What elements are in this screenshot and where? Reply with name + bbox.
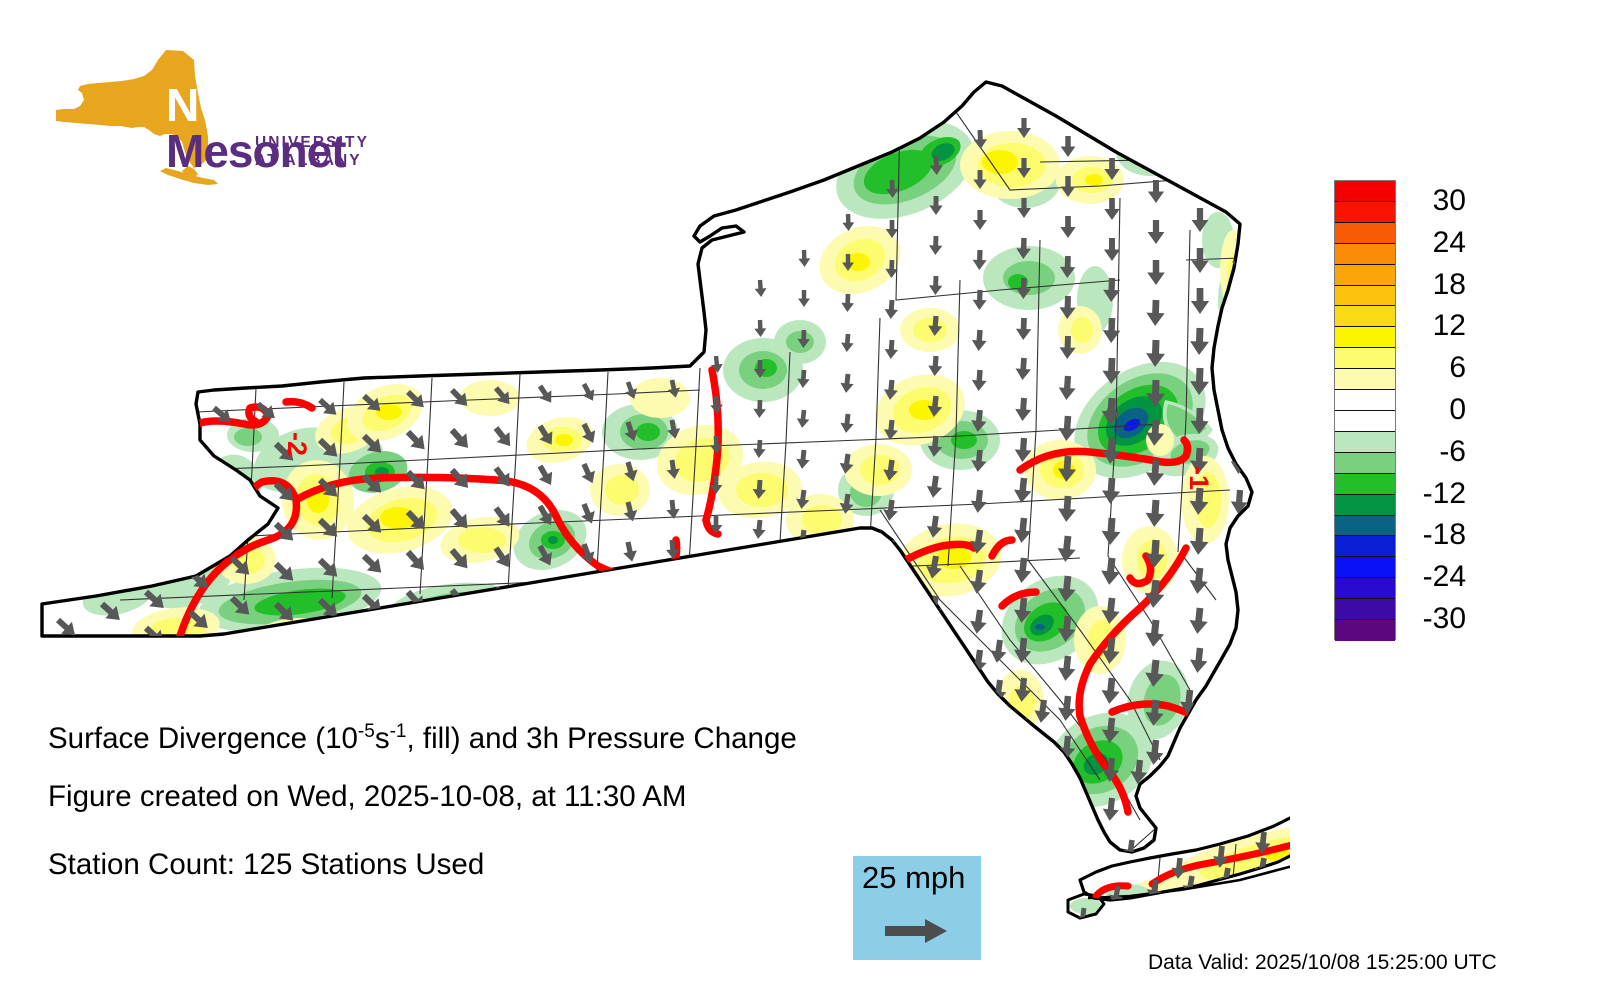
wind-scale-legend: 25 mph bbox=[853, 856, 981, 960]
colorbar-band bbox=[1335, 453, 1395, 474]
colorbar-band bbox=[1335, 474, 1395, 495]
colorbar-tick-label: -6 bbox=[1439, 437, 1466, 467]
colorbar-tick-label: 18 bbox=[1433, 270, 1466, 300]
map-panel[interactable]: -2 -1 bbox=[0, 0, 1290, 960]
colorbar-band bbox=[1335, 411, 1395, 432]
colorbar-band bbox=[1335, 557, 1395, 578]
contour-label-minus-1: -1 bbox=[1184, 466, 1214, 490]
colorbar-band bbox=[1335, 265, 1395, 286]
colorbar-tick-label: -24 bbox=[1423, 562, 1466, 592]
colorbar-band bbox=[1335, 348, 1395, 369]
colorbar-tick-label: 6 bbox=[1449, 353, 1466, 383]
colorbar-tick-label: 12 bbox=[1433, 311, 1466, 341]
colorbar-band bbox=[1335, 181, 1395, 202]
figure-title-pre: Surface Divergence (10 bbox=[48, 722, 358, 755]
figure-title-post: , fill) and 3h Pressure Change bbox=[406, 722, 796, 755]
colorbar-band bbox=[1335, 223, 1395, 244]
colorbar-tick-label: -18 bbox=[1423, 520, 1466, 550]
colorbar-band bbox=[1335, 599, 1395, 620]
figure-title-exponent-2: -1 bbox=[390, 721, 407, 742]
colorbar-band bbox=[1335, 495, 1395, 516]
figure-title: Surface Divergence (10-5s-1, fill) and 3… bbox=[48, 724, 797, 754]
colorbar-band bbox=[1335, 202, 1395, 223]
colorbar-tick-label: 24 bbox=[1433, 228, 1466, 258]
divergence-colorbar[interactable] bbox=[1334, 180, 1396, 640]
colorbar-tick-label: -30 bbox=[1423, 604, 1466, 634]
colorbar-band bbox=[1335, 578, 1395, 599]
station-count-text: Station Count: 125 Stations Used bbox=[48, 850, 484, 880]
colorbar-tick-labels: 3024181260-6-12-18-24-30 bbox=[1404, 180, 1522, 640]
colorbar-tick-label: 30 bbox=[1433, 186, 1466, 216]
colorbar-band bbox=[1335, 432, 1395, 453]
colorbar-band bbox=[1335, 369, 1395, 390]
wind-scale-label: 25 mph bbox=[862, 860, 965, 896]
colorbar-band bbox=[1335, 244, 1395, 265]
colorbar-band bbox=[1335, 390, 1395, 411]
colorbar-band bbox=[1335, 620, 1395, 641]
contour-label-minus-2: -2 bbox=[282, 432, 312, 456]
colorbar-band bbox=[1335, 306, 1395, 327]
colorbar-band bbox=[1335, 536, 1395, 557]
figure-title-exponent-1: -5 bbox=[358, 721, 375, 742]
new-york-divergence-map[interactable]: -2 -1 bbox=[0, 0, 1290, 960]
colorbar-tick-label: -12 bbox=[1423, 479, 1466, 509]
data-valid-text: Data Valid: 2025/10/08 15:25:00 UTC bbox=[1148, 952, 1497, 973]
figure-title-mid: s bbox=[375, 722, 390, 755]
colorbar-band bbox=[1335, 286, 1395, 307]
colorbar-band bbox=[1335, 327, 1395, 348]
colorbar-band bbox=[1335, 516, 1395, 537]
figure-created-timestamp: Figure created on Wed, 2025-10-08, at 11… bbox=[48, 782, 686, 812]
wind-arrow-east-icon bbox=[885, 918, 949, 944]
colorbar-tick-label: 0 bbox=[1449, 395, 1466, 425]
